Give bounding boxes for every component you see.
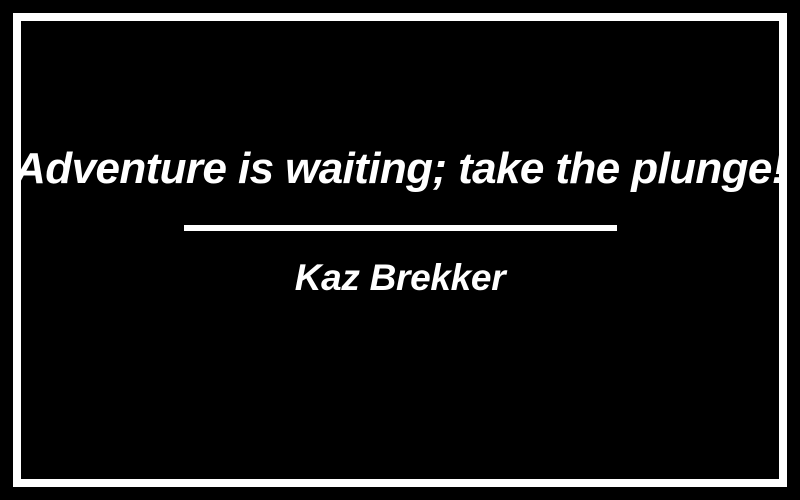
author-name: Kaz Brekker — [295, 257, 506, 300]
divider-rule — [184, 225, 617, 231]
card-frame: Adventure is waiting; take the plunge! K… — [13, 13, 787, 487]
card-content: Adventure is waiting; take the plunge! K… — [21, 144, 779, 356]
quote-card: Adventure is waiting; take the plunge! K… — [0, 0, 800, 500]
quote-text: Adventure is waiting; take the plunge! — [14, 144, 786, 193]
